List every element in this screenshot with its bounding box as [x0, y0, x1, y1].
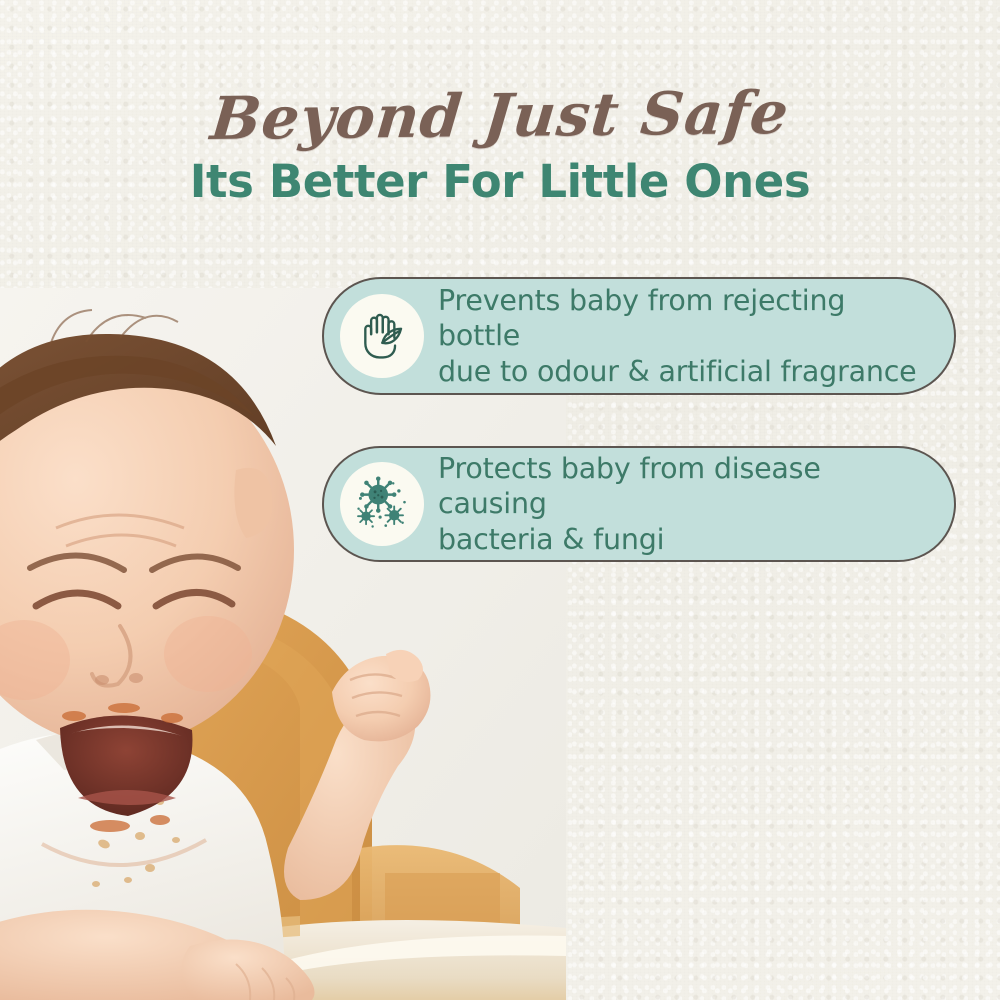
headline-script-line: Beyond Just Safe: [0, 81, 1000, 150]
hand-leaf-icon: [340, 294, 424, 378]
germs-bacteria-icon: [340, 462, 424, 546]
poster-canvas: Beyond Just Safe Its Better For Little O…: [0, 0, 1000, 1000]
feature-pill-prevents-rejection[interactable]: Prevents baby from rejecting bottle due …: [322, 277, 956, 395]
headline-block: Beyond Just Safe Its Better For Little O…: [0, 86, 1000, 204]
feature-pill-protects-bacteria[interactable]: Protects baby from disease causing bacte…: [322, 446, 956, 562]
headline-main-line: Its Better For Little Ones: [0, 159, 1000, 204]
feature-pill-text: Protects baby from disease causing bacte…: [438, 451, 934, 556]
feature-pill-text: Prevents baby from rejecting bottle due …: [438, 283, 934, 388]
